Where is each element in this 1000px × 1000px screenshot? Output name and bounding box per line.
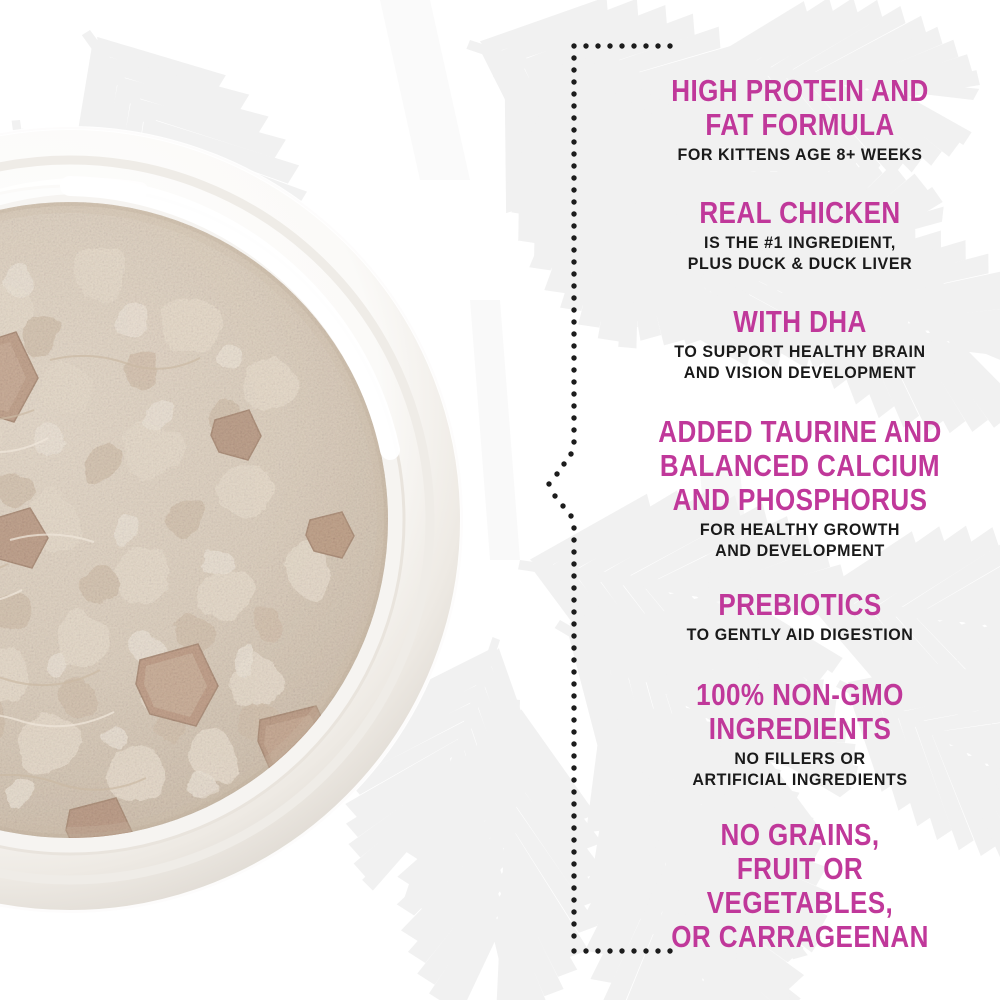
benefit-subtext: FOR HEALTHY GROWTH AND DEVELOPMENT <box>625 520 974 562</box>
benefit-item-prebiotics: PREBIOTICS TO GENTLY AID DIGESTION <box>620 588 980 646</box>
benefit-item-real-chicken: REAL CHICKEN IS THE #1 INGREDIENT, PLUS … <box>620 196 980 275</box>
benefit-item-no-grains-fruit-or-vegetables-or-carrageenan: NO GRAINS, FRUIT OR VEGETABLES, OR CARRA… <box>620 818 980 957</box>
benefit-subtext: IS THE #1 INGREDIENT, PLUS DUCK & DUCK L… <box>625 233 974 275</box>
benefit-heading: PREBIOTICS <box>649 588 951 622</box>
benefit-heading: NO GRAINS, FRUIT OR VEGETABLES, OR CARRA… <box>649 818 951 954</box>
benefit-heading: WITH DHA <box>649 305 951 339</box>
product-photo-bowl-of-cat-food <box>0 120 470 920</box>
benefit-heading: ADDED TAURINE AND BALANCED CALCIUM AND P… <box>649 415 951 517</box>
benefit-subtext: TO SUPPORT HEALTHY BRAIN AND VISION DEVE… <box>625 342 974 384</box>
benefit-heading: REAL CHICKEN <box>649 196 951 230</box>
benefits-list: HIGH PROTEIN AND FAT FORMULA FOR KITTENS… <box>620 0 980 1000</box>
benefit-item-with-dha: WITH DHA TO SUPPORT HEALTHY BRAIN AND VI… <box>620 305 980 384</box>
benefit-heading: 100% NON-GMO INGREDIENTS <box>649 678 951 746</box>
benefit-heading: HIGH PROTEIN AND FAT FORMULA <box>649 74 951 142</box>
benefit-item-100-percent-non-gmo-ingredients: 100% NON-GMO INGREDIENTS NO FILLERS OR A… <box>620 678 980 791</box>
benefit-subtext: NO FILLERS OR ARTIFICIAL INGREDIENTS <box>625 749 974 791</box>
benefit-item-added-taurine-and-balanced-calcium-and-phosphorus: ADDED TAURINE AND BALANCED CALCIUM AND P… <box>620 415 980 562</box>
benefit-subtext: TO GENTLY AID DIGESTION <box>625 625 974 646</box>
benefit-item-high-protein-and-fat-formula: HIGH PROTEIN AND FAT FORMULA FOR KITTENS… <box>620 74 980 166</box>
benefit-subtext: FOR KITTENS AGE 8+ WEEKS <box>625 145 974 166</box>
product-benefits-panel: HIGH PROTEIN AND FAT FORMULA FOR KITTENS… <box>0 0 1000 1000</box>
